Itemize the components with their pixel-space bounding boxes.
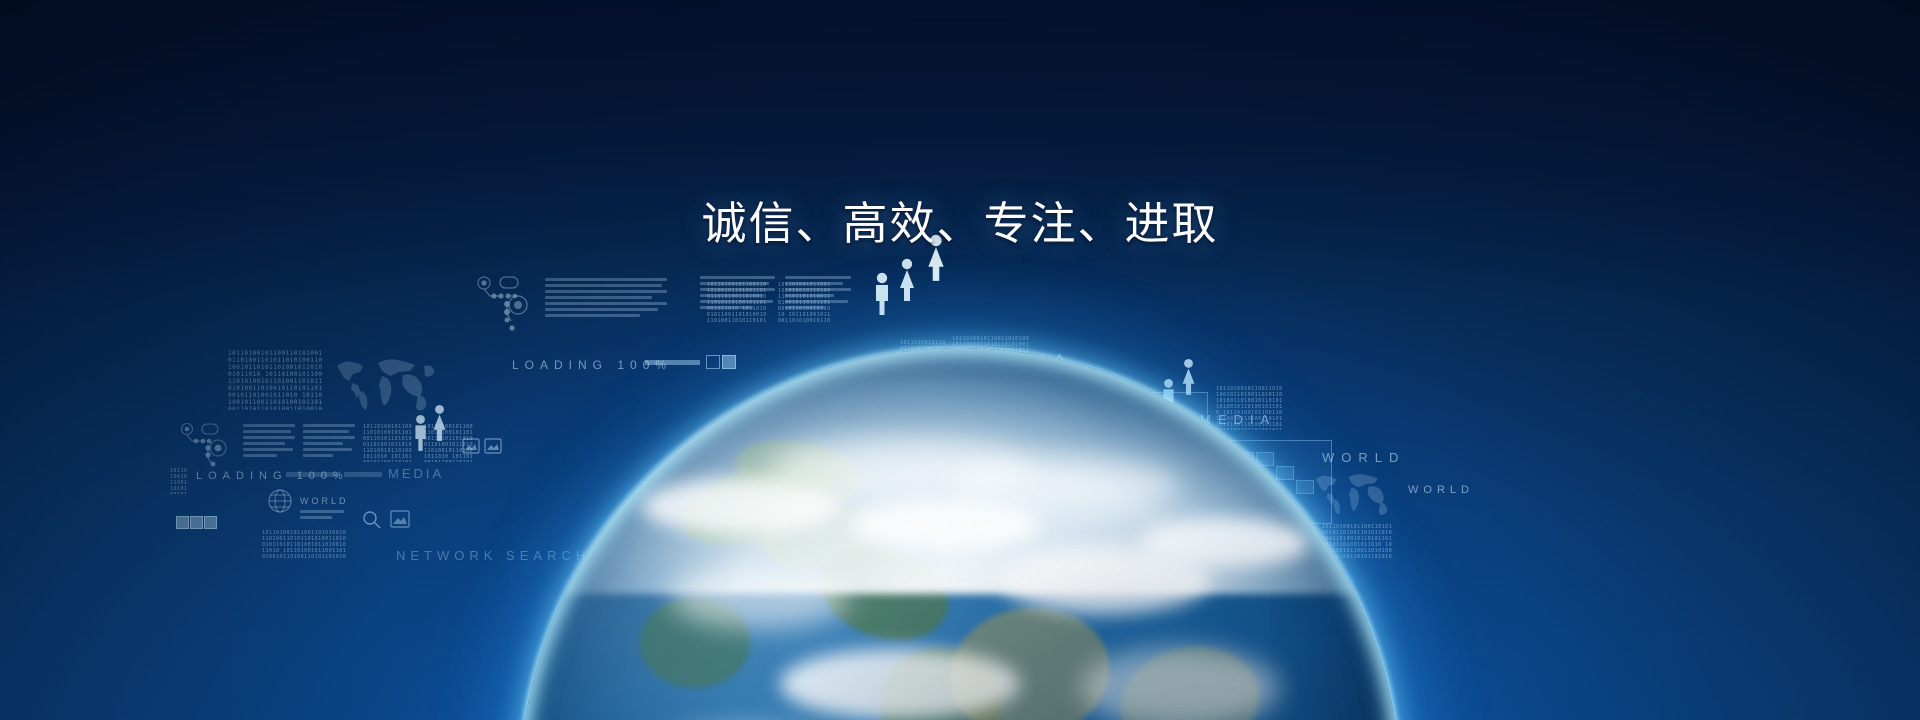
background-vignette [0,0,1920,720]
hero-banner: LOADING 100% MEDIA 101101001011001101010… [0,0,1920,720]
page-title: 诚信、高效、专注、进取 [0,196,1920,252]
